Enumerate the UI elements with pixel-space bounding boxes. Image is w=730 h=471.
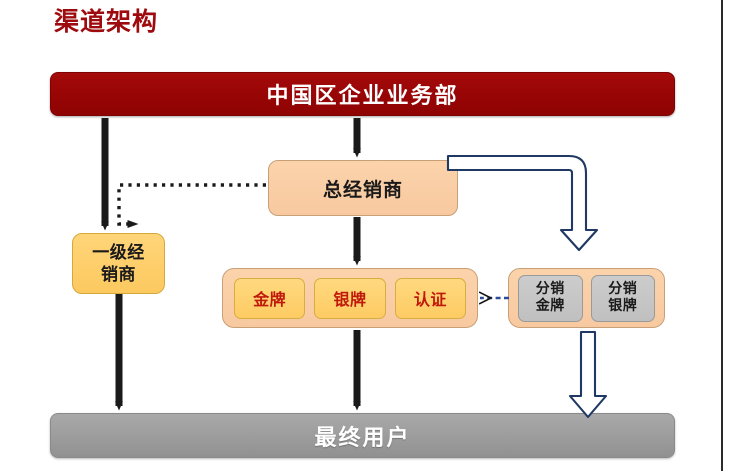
group-partner-levels: 金牌 银牌 认证: [222, 268, 478, 328]
node-tier1-distributor: 一级经 销商: [72, 233, 165, 294]
slide-canvas: 渠道架构 中国区企业业务部 最终用户 总经销商 一级经 销商 金牌 银牌 认证: [0, 0, 730, 471]
node-tier1-distributor-label: 一级经 销商: [92, 242, 145, 286]
chip-certified: 认证: [395, 278, 466, 319]
chip-distribution-gold: 分销 金牌: [518, 275, 583, 322]
group-distribution-levels: 分销 金牌 分销 银牌: [508, 268, 665, 328]
chip-distribution-silver-line1: 分销: [608, 281, 637, 297]
chip-gold-medal: 金牌: [234, 278, 305, 319]
connector-master-to-distribution: [448, 156, 597, 250]
connector-distribution-to-enduser: [570, 332, 606, 417]
connector-master-to-tier1: [119, 185, 266, 224]
chip-distribution-gold-label: 分销 金牌: [536, 281, 565, 315]
chip-silver-medal: 银牌: [314, 278, 385, 319]
chip-silver-medal-label: 银牌: [333, 286, 366, 310]
chip-distribution-silver-line2: 银牌: [608, 298, 637, 314]
right-edge-divider: [721, 0, 723, 471]
banner-end-user: 最终用户: [50, 413, 675, 458]
chip-distribution-silver-label: 分销 银牌: [608, 281, 637, 315]
node-master-distributor: 总经销商: [268, 160, 458, 216]
chip-distribution-silver: 分销 银牌: [591, 275, 656, 322]
node-tier1-line1: 一级经: [92, 243, 145, 263]
banner-end-user-label: 最终用户: [314, 420, 410, 452]
banner-headquarters: 中国区企业业务部: [50, 72, 675, 116]
banner-headquarters-label: 中国区企业业务部: [266, 78, 458, 110]
chip-distribution-gold-line1: 分销: [536, 281, 565, 297]
page-title: 渠道架构: [54, 4, 158, 40]
node-master-distributor-label: 总经销商: [323, 175, 403, 202]
chip-distribution-gold-line2: 金牌: [536, 298, 565, 314]
chip-gold-medal-label: 金牌: [253, 286, 286, 310]
chip-certified-label: 认证: [414, 286, 447, 310]
node-tier1-line2: 销商: [101, 265, 136, 285]
